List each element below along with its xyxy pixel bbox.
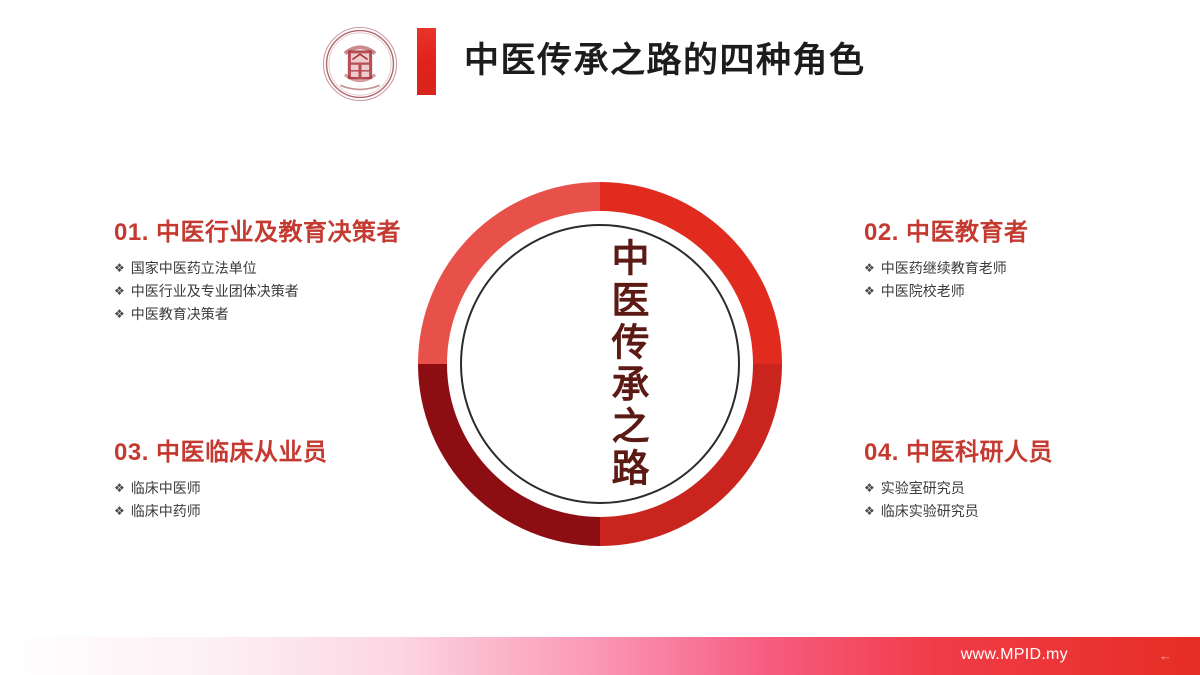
footer-website-url[interactable]: www.MPID.my (961, 646, 1068, 664)
diamond-bullet-icon: ❖ (864, 478, 875, 499)
role-heading-01: 01. 中医行业及教育决策者 (114, 212, 444, 247)
role-block-04: 04. 中医科研人员 ❖ 实验室研究员 ❖ 临床实验研究员 (864, 432, 1184, 524)
role-list-04: ❖ 实验室研究员 ❖ 临床实验研究员 (864, 478, 1184, 522)
role-block-03: 03. 中医临床从业员 ❖ 临床中医师 ❖ 临床中药师 (114, 432, 444, 524)
role-block-01: 01. 中医行业及教育决策者 ❖ 国家中医药立法单位 ❖ 中医行业及专业团体决策… (114, 212, 444, 327)
list-item: ❖ 中医院校老师 (864, 281, 1184, 302)
list-item: ❖ 实验室研究员 (864, 478, 1184, 499)
list-item-label: 临床实验研究员 (881, 501, 979, 522)
diamond-bullet-icon: ❖ (114, 258, 125, 279)
diamond-bullet-icon: ❖ (114, 501, 125, 522)
list-item-label: 中医院校老师 (881, 281, 965, 302)
role-list-01: ❖ 国家中医药立法单位 ❖ 中医行业及专业团体决策者 ❖ 中医教育决策者 (114, 258, 444, 325)
role-heading-02: 02. 中医教育者 (864, 212, 1184, 247)
footer-back-icon[interactable]: ← (1159, 648, 1172, 663)
list-item-label: 实验室研究员 (881, 478, 965, 499)
center-ring-diagram: 中医传承之路 (418, 182, 782, 546)
list-item: ❖ 国家中医药立法单位 (114, 258, 444, 279)
diamond-bullet-icon: ❖ (864, 281, 875, 302)
list-item: ❖ 临床中医师 (114, 478, 444, 499)
list-item: ❖ 临床实验研究员 (864, 501, 1184, 522)
title-accent-bar (417, 28, 436, 95)
list-item: ❖ 临床中药师 (114, 501, 444, 522)
list-item-label: 国家中医药立法单位 (131, 258, 257, 279)
role-list-03: ❖ 临床中医师 ❖ 临床中药师 (114, 478, 444, 522)
ring-center-label-wrap: 中医传承之路 (418, 182, 782, 546)
ring-center-label: 中医传承之路 (607, 238, 645, 490)
role-block-02: 02. 中医教育者 ❖ 中医药继续教育老师 ❖ 中医院校老师 (864, 212, 1184, 304)
list-item-label: 临床中医师 (131, 478, 201, 499)
page-title: 中医传承之路的四种角色 (464, 37, 866, 85)
list-item: ❖ 中医药继续教育老师 (864, 258, 1184, 279)
role-list-02: ❖ 中医药继续教育老师 ❖ 中医院校老师 (864, 258, 1184, 302)
diamond-bullet-icon: ❖ (114, 281, 125, 302)
list-item: ❖ 中医教育决策者 (114, 304, 444, 325)
list-item-label: 临床中药师 (131, 501, 201, 522)
list-item-label: 中医行业及专业团体决策者 (131, 281, 299, 302)
diamond-bullet-icon: ❖ (114, 478, 125, 499)
diamond-bullet-icon: ❖ (864, 258, 875, 279)
list-item: ❖ 中医行业及专业团体决策者 (114, 281, 444, 302)
diamond-bullet-icon: ❖ (114, 304, 125, 325)
role-heading-03: 03. 中医临床从业员 (114, 432, 444, 467)
diamond-bullet-icon: ❖ (864, 501, 875, 522)
list-item-label: 中医药继续教育老师 (881, 258, 1007, 279)
slide-footer: www.MPID.my ← (0, 637, 1200, 675)
slide-header: 中医传承之路的四种角色 (0, 0, 1200, 125)
role-heading-04: 04. 中医科研人员 (864, 432, 1184, 467)
list-item-label: 中医教育决策者 (131, 304, 229, 325)
university-seal-logo-icon (322, 26, 398, 102)
